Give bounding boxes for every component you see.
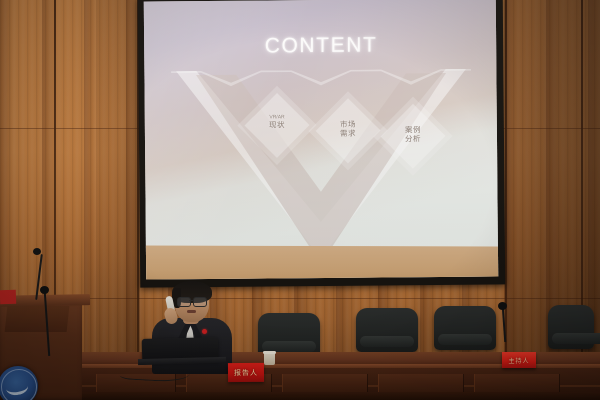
presentation-slide: CONTENT VR/AR 现状 市场 需求 案例 分析 (144, 0, 498, 280)
chair (548, 305, 594, 349)
nameplate-speaker: 报告人 (228, 363, 264, 382)
wall-shadow-column (96, 0, 140, 400)
podium-column (5, 306, 70, 332)
projection-screen-surface: CONTENT VR/AR 现状 市场 需求 案例 分析 (144, 0, 498, 280)
nameplate-host: 主持人 (502, 352, 536, 368)
speaker-lapel-pin (202, 329, 207, 334)
chair (356, 308, 418, 352)
slide-diamond-3-label: 分析 (385, 135, 441, 144)
slide-diamond-2-label: 需求 (320, 129, 376, 138)
microphone-head-icon (40, 286, 49, 294)
microphone-head-icon (498, 302, 507, 310)
microphone-head-icon (33, 248, 41, 255)
slide-diamond-2-text: 市场 需求 (320, 121, 376, 139)
slide-diamond-1-label: 现状 (249, 121, 305, 130)
screenshot-stage: CONTENT VR/AR 现状 市场 需求 案例 分析 (0, 0, 600, 400)
laptop-cable (120, 360, 191, 383)
second-row-desk (0, 392, 600, 400)
university-emblem (0, 366, 38, 400)
podium-red-cloth (0, 290, 16, 305)
projection-screen: CONTENT VR/AR 现状 市场 需求 案例 分析 (138, 0, 506, 288)
paper-cup-rim (263, 351, 276, 354)
slide-diamond-3-text: 案例 分析 (385, 126, 441, 144)
slide-title: CONTENT (144, 33, 498, 60)
slide-diamond-1-text: VR/AR 现状 (249, 115, 305, 130)
speaker-mouth (187, 310, 196, 313)
slide-diamond-1-sub: VR/AR (249, 115, 305, 121)
glasses-bridge (189, 300, 194, 301)
slide-bottom-band (144, 245, 498, 279)
chair (434, 306, 496, 350)
